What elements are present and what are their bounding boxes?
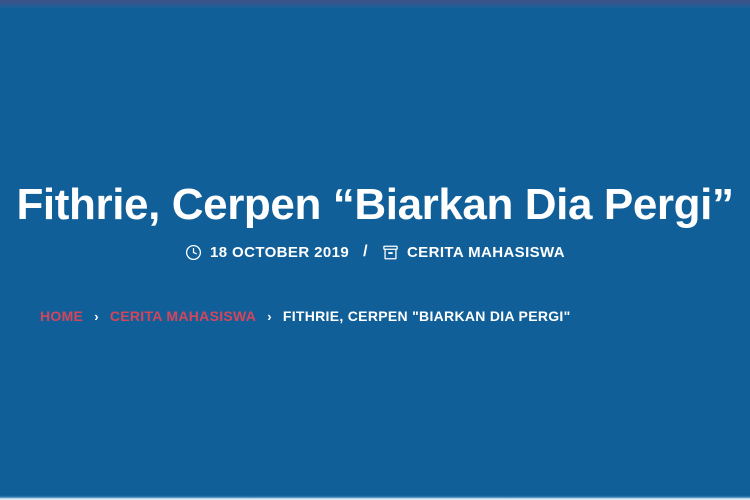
hero-content: Fithrie, Cerpen “Biarkan Dia Pergi” 18 O… bbox=[0, 0, 750, 500]
meta-separator: / bbox=[363, 243, 368, 261]
entry-meta: 18 OCTOBER 2019 / CERITA MAHASISWA bbox=[0, 243, 750, 261]
article-hero-header: Fithrie, Cerpen “Biarkan Dia Pergi” 18 O… bbox=[0, 0, 750, 500]
archive-box-icon bbox=[382, 244, 399, 261]
breadcrumb: HOME › CERITA MAHASISWA › FITHRIE, CERPE… bbox=[40, 308, 571, 324]
entry-category-label: CERITA MAHASISWA bbox=[407, 244, 565, 261]
page-title: Fithrie, Cerpen “Biarkan Dia Pergi” bbox=[0, 177, 750, 233]
entry-date-label: 18 OCTOBER 2019 bbox=[210, 244, 349, 261]
clock-icon bbox=[185, 244, 202, 261]
entry-category: CERITA MAHASISWA bbox=[382, 244, 565, 261]
hero-bottom-accent-band bbox=[0, 495, 750, 500]
chevron-right-icon: › bbox=[267, 310, 272, 323]
breadcrumb-item-cerita-mahasiswa[interactable]: CERITA MAHASISWA bbox=[110, 308, 256, 324]
breadcrumb-item-home[interactable]: HOME bbox=[40, 308, 83, 324]
entry-date: 18 OCTOBER 2019 bbox=[185, 244, 349, 261]
breadcrumb-item-current: FITHRIE, CERPEN "BIARKAN DIA PERGI" bbox=[283, 308, 571, 324]
chevron-right-icon: › bbox=[94, 310, 99, 323]
